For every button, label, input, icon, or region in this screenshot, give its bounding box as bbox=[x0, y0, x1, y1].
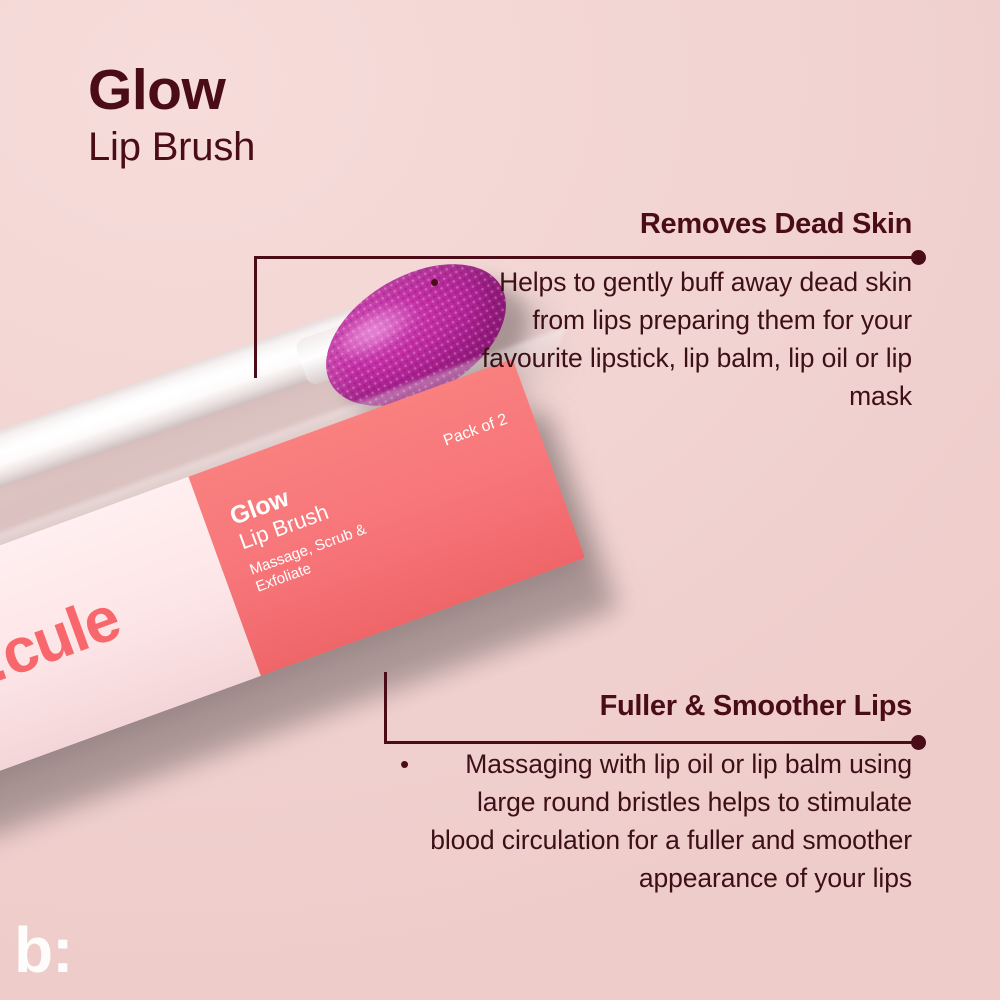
callout-2-text: Massaging with lip oil or lip balm using… bbox=[423, 745, 912, 898]
callout-1-text: Helps to gently buff away dead skin from… bbox=[453, 263, 912, 416]
page-subtitle: Lip Brush bbox=[88, 125, 255, 170]
leader-line-2-endpoint-dot bbox=[911, 735, 926, 750]
callout-1-heading: Removes Dead Skin bbox=[430, 208, 912, 241]
callout-2-body: • Massaging with lip oil or lip balm usi… bbox=[400, 745, 912, 898]
callout-2-bullet-icon: • bbox=[400, 745, 409, 898]
title-block: Glow Lip Brush bbox=[88, 62, 255, 170]
product-box-pack-label: Pack of 2 bbox=[441, 411, 510, 451]
leader-line-2-vertical bbox=[384, 672, 387, 744]
page-title: Glow bbox=[88, 62, 255, 119]
callout-2-heading: Fuller & Smoother Lips bbox=[400, 690, 912, 723]
callout-fuller-smoother-lips: Fuller & Smoother Lips • Massaging with … bbox=[400, 690, 912, 898]
callout-removes-dead-skin: Removes Dead Skin • Helps to gently buff… bbox=[430, 208, 912, 416]
callout-1-bullet-icon: • bbox=[430, 263, 439, 416]
brand-watermark-logo: b: bbox=[14, 918, 72, 982]
callout-1-body: • Helps to gently buff away dead skin fr… bbox=[430, 263, 912, 416]
leader-line-1-endpoint-dot bbox=[911, 250, 926, 265]
leader-line-1-vertical bbox=[254, 258, 257, 378]
brand-logo-text: bio:cule bbox=[0, 582, 128, 728]
product-box-copy: Glow Lip Brush Massage, Scrub & Exfoliat… bbox=[227, 454, 401, 597]
product-infographic: bio:cule Glow Lip Brush Massage, Scrub &… bbox=[0, 0, 1000, 1000]
